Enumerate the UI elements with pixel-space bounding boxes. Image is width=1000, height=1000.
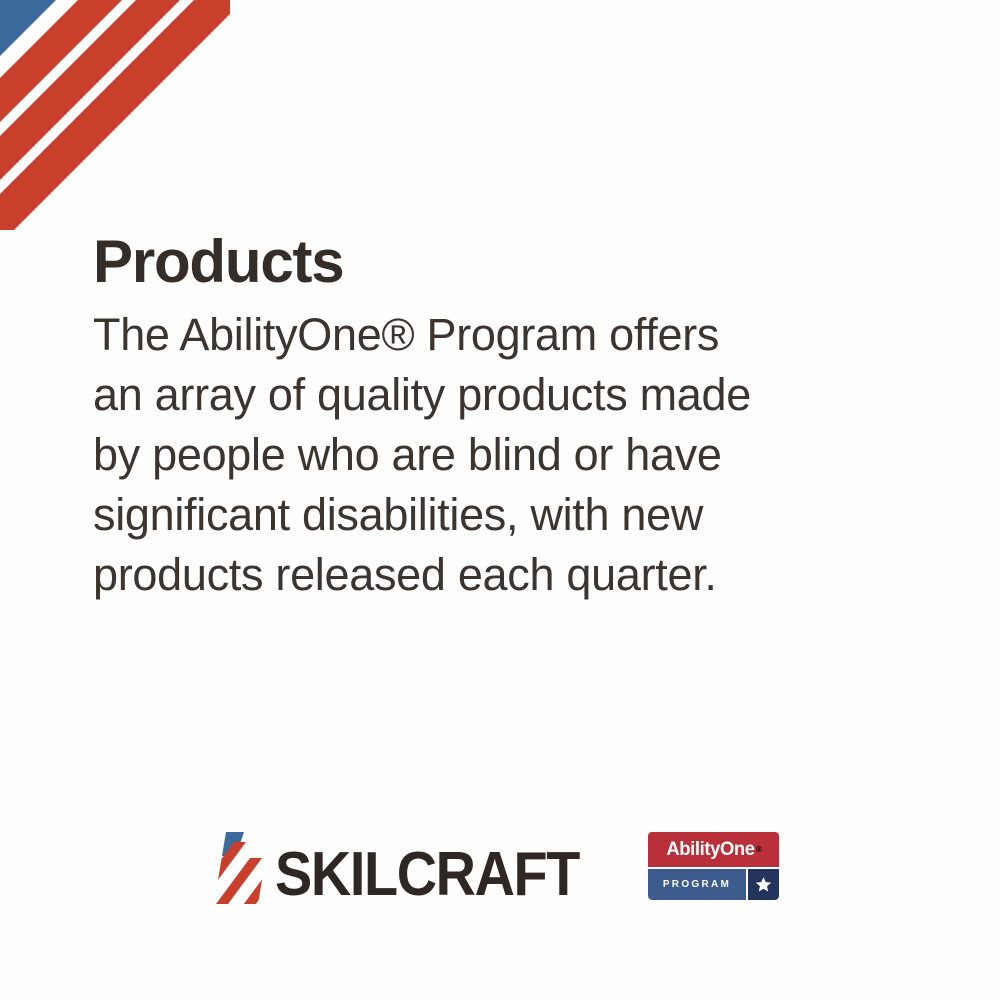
corner-red-stripe-2 xyxy=(0,0,226,226)
slide-canvas: Products The AbilityOne® Program offers … xyxy=(0,0,1000,1000)
skilcraft-logo: SKILCRAFT xyxy=(214,822,613,904)
body-line-4: significant disabilities, with new xyxy=(93,485,883,545)
abilityone-wordmark: AbilityOne xyxy=(666,840,754,859)
corner-white-gap-3 xyxy=(0,0,230,230)
body-line-2: an array of quality products made xyxy=(93,365,883,425)
skilcraft-wordmark: SKILCRAFT xyxy=(275,846,579,904)
skilcraft-flag-mark xyxy=(214,832,270,904)
abilityone-program-box: PROGRAM xyxy=(648,869,746,900)
corner-red-stripe-3 xyxy=(0,0,230,230)
abilityone-bottom-band: PROGRAM xyxy=(648,867,779,900)
star-icon xyxy=(755,876,772,893)
abilityone-program-label: PROGRAM xyxy=(663,880,731,890)
abilityone-logo: AbilityOne® PROGRAM xyxy=(648,832,779,900)
body-paragraph: The AbilityOne® Program offers an array … xyxy=(93,305,883,605)
corner-white-gap-2 xyxy=(0,0,182,182)
corner-white-gap-1 xyxy=(0,0,124,124)
abilityone-star-box xyxy=(748,869,779,900)
logo-row: SKILCRAFT AbilityOne® PROGRAM xyxy=(0,822,1000,917)
abilityone-top-band: AbilityOne® xyxy=(648,832,779,867)
corner-blue-wedge xyxy=(0,0,112,112)
corner-red-stripe-1 xyxy=(0,0,168,168)
body-line-1: The AbilityOne® Program offers xyxy=(93,305,883,365)
body-line-3: by people who are blind or have xyxy=(93,425,883,485)
registered-trademark-icon: ® xyxy=(756,845,762,854)
page-title: Products xyxy=(93,232,343,292)
body-line-5: products released each quarter. xyxy=(93,545,883,605)
flag-stripes-corner-decoration xyxy=(0,0,230,230)
